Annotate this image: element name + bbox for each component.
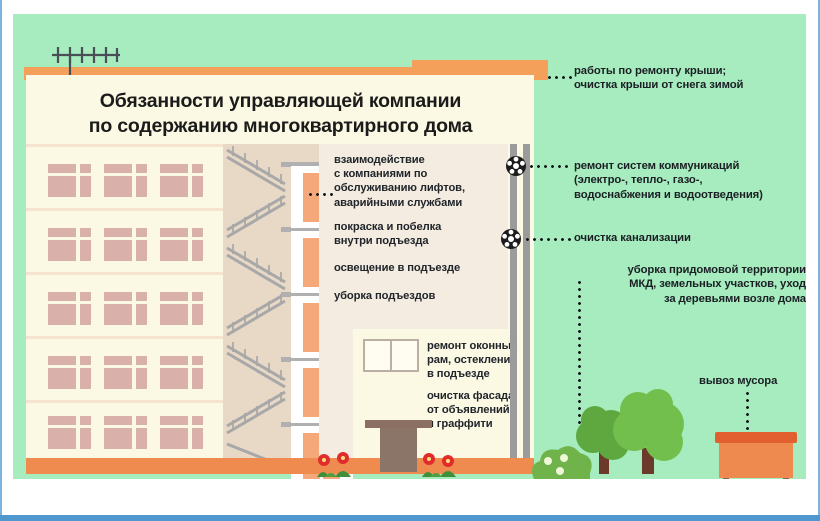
annotation-line: водоснабжения и водоотведения) xyxy=(574,188,806,202)
window-icon xyxy=(104,292,148,326)
floor-divider xyxy=(26,208,223,211)
window-repair-icon xyxy=(363,339,419,372)
list-line: внутри подъезда xyxy=(334,234,499,248)
window-icon xyxy=(48,292,92,326)
tv-antenna-icon xyxy=(48,39,128,79)
window-icon xyxy=(48,356,92,390)
list-line: с компаниями по xyxy=(334,167,499,181)
entrance-canopy xyxy=(365,420,432,428)
window-icon xyxy=(160,164,204,198)
floor-divider xyxy=(26,144,223,147)
infographic-canvas: Обязанности управляющей компании по соде… xyxy=(13,14,806,479)
annotation-line: МКД, земельных участков, уход xyxy=(580,277,806,291)
window-icon xyxy=(104,228,148,262)
floor-divider xyxy=(26,400,223,403)
annotation-line: работы по ремонту крыши; xyxy=(574,64,806,78)
list-line: освещение в подъезде xyxy=(334,261,509,275)
list-item-lifts: взаимодействие с компаниями по обслужива… xyxy=(334,153,499,210)
garbage-dumpster-icon xyxy=(713,432,799,479)
annotation-sewage: очистка канализации xyxy=(574,231,806,245)
annotation-line: ремонт систем коммуникаций xyxy=(574,159,806,173)
leader-line-roof xyxy=(546,76,572,79)
window-icon xyxy=(48,416,92,450)
flower-icon xyxy=(418,451,470,477)
page-title-line-1: Обязанности управляющей компании xyxy=(53,89,508,114)
window-icon xyxy=(160,416,204,450)
list-line: уборка подъездов xyxy=(334,289,509,303)
leader-line-garbage xyxy=(746,390,749,432)
leader-line-utilities xyxy=(528,165,572,168)
list-line: покраска и побелка xyxy=(334,220,499,234)
flower-icon xyxy=(313,451,365,477)
leader-line-lifts xyxy=(307,193,333,196)
page-title-line-2: по содержанию многоквартирного дома xyxy=(53,114,508,139)
utility-pipe-icon xyxy=(510,144,517,467)
window-icon xyxy=(104,356,148,390)
window-icon xyxy=(160,292,204,326)
pipe-cross-section-icon xyxy=(505,155,527,177)
list-item-cleaning-entrances: уборка подъездов xyxy=(334,289,509,303)
leader-line-sewage xyxy=(524,238,572,241)
annotation-line: очистка канализации xyxy=(574,231,806,245)
infographic-page: Обязанности управляющей компании по соде… xyxy=(0,0,820,521)
floor-divider xyxy=(26,272,223,275)
page-frame-left-border xyxy=(0,0,2,521)
list-item-lighting: освещение в подъезде xyxy=(334,261,509,275)
building-entrance-icon xyxy=(380,428,417,472)
floor-divider xyxy=(26,336,223,339)
window-icon xyxy=(104,416,148,450)
page-title: Обязанности управляющей компании по соде… xyxy=(53,89,508,139)
utility-pipe-icon xyxy=(523,144,530,467)
tree-icon xyxy=(608,386,690,474)
page-frame-bottom-bar xyxy=(0,515,820,521)
list-line: взаимодействие xyxy=(334,153,499,167)
window-icon xyxy=(48,228,92,262)
list-line: аварийными службами xyxy=(334,196,499,210)
annotation-line: очистка крыши от снега зимой xyxy=(574,78,806,92)
list-item-painting: покраска и побелка внутри подъезда xyxy=(334,220,499,248)
window-icon xyxy=(48,164,92,198)
pipe-cross-section-icon xyxy=(500,228,522,250)
window-icon xyxy=(160,228,204,262)
annotation-line: вывоз мусора xyxy=(699,374,806,388)
annotation-garbage: вывоз мусора xyxy=(699,374,806,388)
annotation-line: за деревьями возле дома xyxy=(580,292,806,306)
annotation-roof: работы по ремонту крыши; очистка крыши о… xyxy=(574,64,806,93)
annotation-line: уборка придомовой территории xyxy=(580,263,806,277)
left-facade-windows xyxy=(26,144,223,467)
window-icon xyxy=(160,356,204,390)
annotation-utilities: ремонт систем коммуникаций (электро-, те… xyxy=(574,159,806,202)
window-icon xyxy=(104,164,148,198)
annotation-line: (электро-, тепло-, газо-, xyxy=(574,173,806,187)
list-line: обслуживанию лифтов, xyxy=(334,181,499,195)
annotation-yard: уборка придомовой территории МКД, земель… xyxy=(580,263,806,306)
